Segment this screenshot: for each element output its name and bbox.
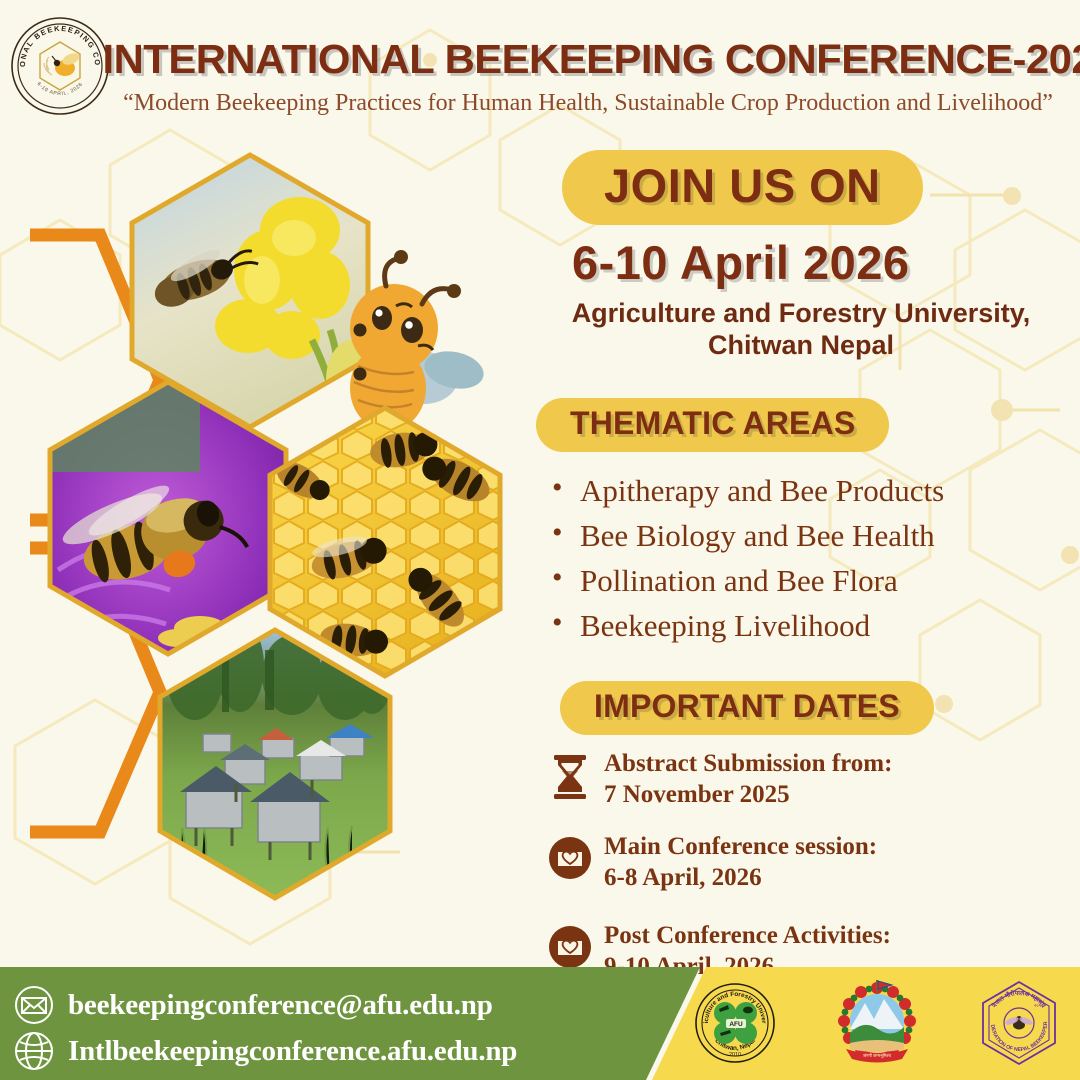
conference-seal-logo: INTERNATIONAL BEEKEEPING CONFERENCE 6-10… (8, 12, 112, 120)
federation-of-nepal-beekeepers-logo: नेपाल मौरीपालक महासंघ FEDERATION OF NEPA… (976, 977, 1062, 1069)
hexagon-photo-collage (0, 130, 540, 965)
conference-venue: Agriculture and Forestry University, Chi… (536, 298, 1066, 362)
join-us-badge: JOIN US ON (562, 150, 923, 225)
list-item: Beekeeping Livelihood (548, 603, 1080, 648)
date-entry-text: Main Conference session: 6-8 April, 2026 (604, 832, 877, 893)
svg-text:FEDERATION OF NEPAL BEEKEEPERS: FEDERATION OF NEPAL BEEKEEPERS (976, 977, 1049, 1053)
list-item: Apitherapy and Bee Products (548, 468, 1080, 513)
conference-dates: 6-10 April 2026 (572, 235, 1080, 290)
important-dates-list: Abstract Submission from: 7 November 202… (548, 749, 1080, 983)
contact-website-row[interactable]: Intlbeekeepingconference.afu.edu.np (14, 1031, 517, 1071)
page-title: INTERNATIONAL BEEKEEPING CONFERENCE-2026 (102, 36, 1073, 83)
hex-photo-bees-on-honeycomb (270, 408, 500, 676)
hourglass-icon (548, 749, 592, 801)
important-dates-heading: IMPORTANT DATES (560, 681, 934, 735)
svg-text:AFU: AFU (729, 1021, 743, 1028)
thematic-areas-list: Apitherapy and Bee Products Bee Biology … (548, 468, 1080, 649)
list-item: Pollination and Bee Flora (548, 558, 1080, 603)
venue-line-2: Chitwan Nepal (708, 330, 894, 360)
afu-logo-year: 2010 (729, 1052, 741, 1058)
list-item: Main Conference session: 6-8 April, 2026 (548, 832, 1080, 893)
poster-right-column: JOIN US ON 6-10 April 2026 Agriculture a… (520, 150, 1080, 1004)
footer-contact-block: beekeepingconference@afu.edu.np Intlbeek… (14, 985, 517, 1077)
afu-logo: Agriculture and Forestry University Chit… (692, 977, 778, 1069)
poster-header: INTERNATIONAL BEEKEEPING CONFERENCE 6-10… (0, 0, 1080, 130)
date-value: 7 November 2025 (604, 779, 892, 810)
thematic-areas-heading: THEMATIC AREAS (536, 398, 889, 452)
date-entry-text: Abstract Submission from: 7 November 202… (604, 749, 892, 810)
footer-partner-logos: Agriculture and Forestry University Chit… (692, 977, 1062, 1069)
calendar-heart-icon (548, 921, 592, 969)
list-item: Bee Biology and Bee Health (548, 513, 1080, 558)
poster-footer: beekeepingconference@afu.edu.np Intlbeek… (0, 967, 1080, 1080)
date-label: Main Conference session: (604, 832, 877, 862)
date-label: Post Conference Activities: (604, 921, 891, 951)
date-label: Abstract Submission from: (604, 749, 892, 779)
cartoon-bee-mascot (350, 250, 487, 431)
page-subtitle: “Modern Beekeeping Practices for Human H… (100, 90, 1076, 117)
list-item: Abstract Submission from: 7 November 202… (548, 749, 1080, 810)
contact-website[interactable]: Intlbeekeepingconference.afu.edu.np (68, 1035, 517, 1068)
contact-email-row[interactable]: beekeepingconference@afu.edu.np (14, 985, 517, 1025)
date-value: 6-8 April, 2026 (604, 862, 877, 893)
calendar-heart-icon (548, 832, 592, 880)
venue-line-1: Agriculture and Forestry University, (572, 298, 1031, 328)
nepal-government-emblem: जननी जन्मभूमिश्च (834, 977, 920, 1069)
envelope-icon (14, 985, 54, 1025)
fnb-logo-year: २०५८ (1034, 1003, 1044, 1008)
globe-icon (14, 1031, 54, 1071)
contact-email[interactable]: beekeepingconference@afu.edu.np (68, 989, 493, 1022)
